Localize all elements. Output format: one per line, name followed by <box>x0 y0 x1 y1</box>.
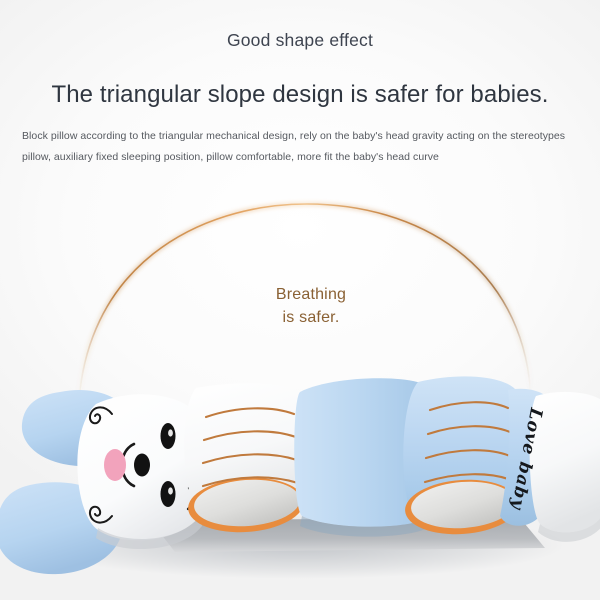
eye-right <box>161 481 176 507</box>
eye-right-glint <box>168 487 173 494</box>
eye-left <box>161 423 176 449</box>
product-marketing-image: Good shape effect The triangular slope d… <box>0 0 600 600</box>
eye-left-glint <box>168 429 173 436</box>
nose <box>134 454 150 477</box>
bolster-left <box>184 383 310 536</box>
cheek-blush <box>104 449 126 481</box>
